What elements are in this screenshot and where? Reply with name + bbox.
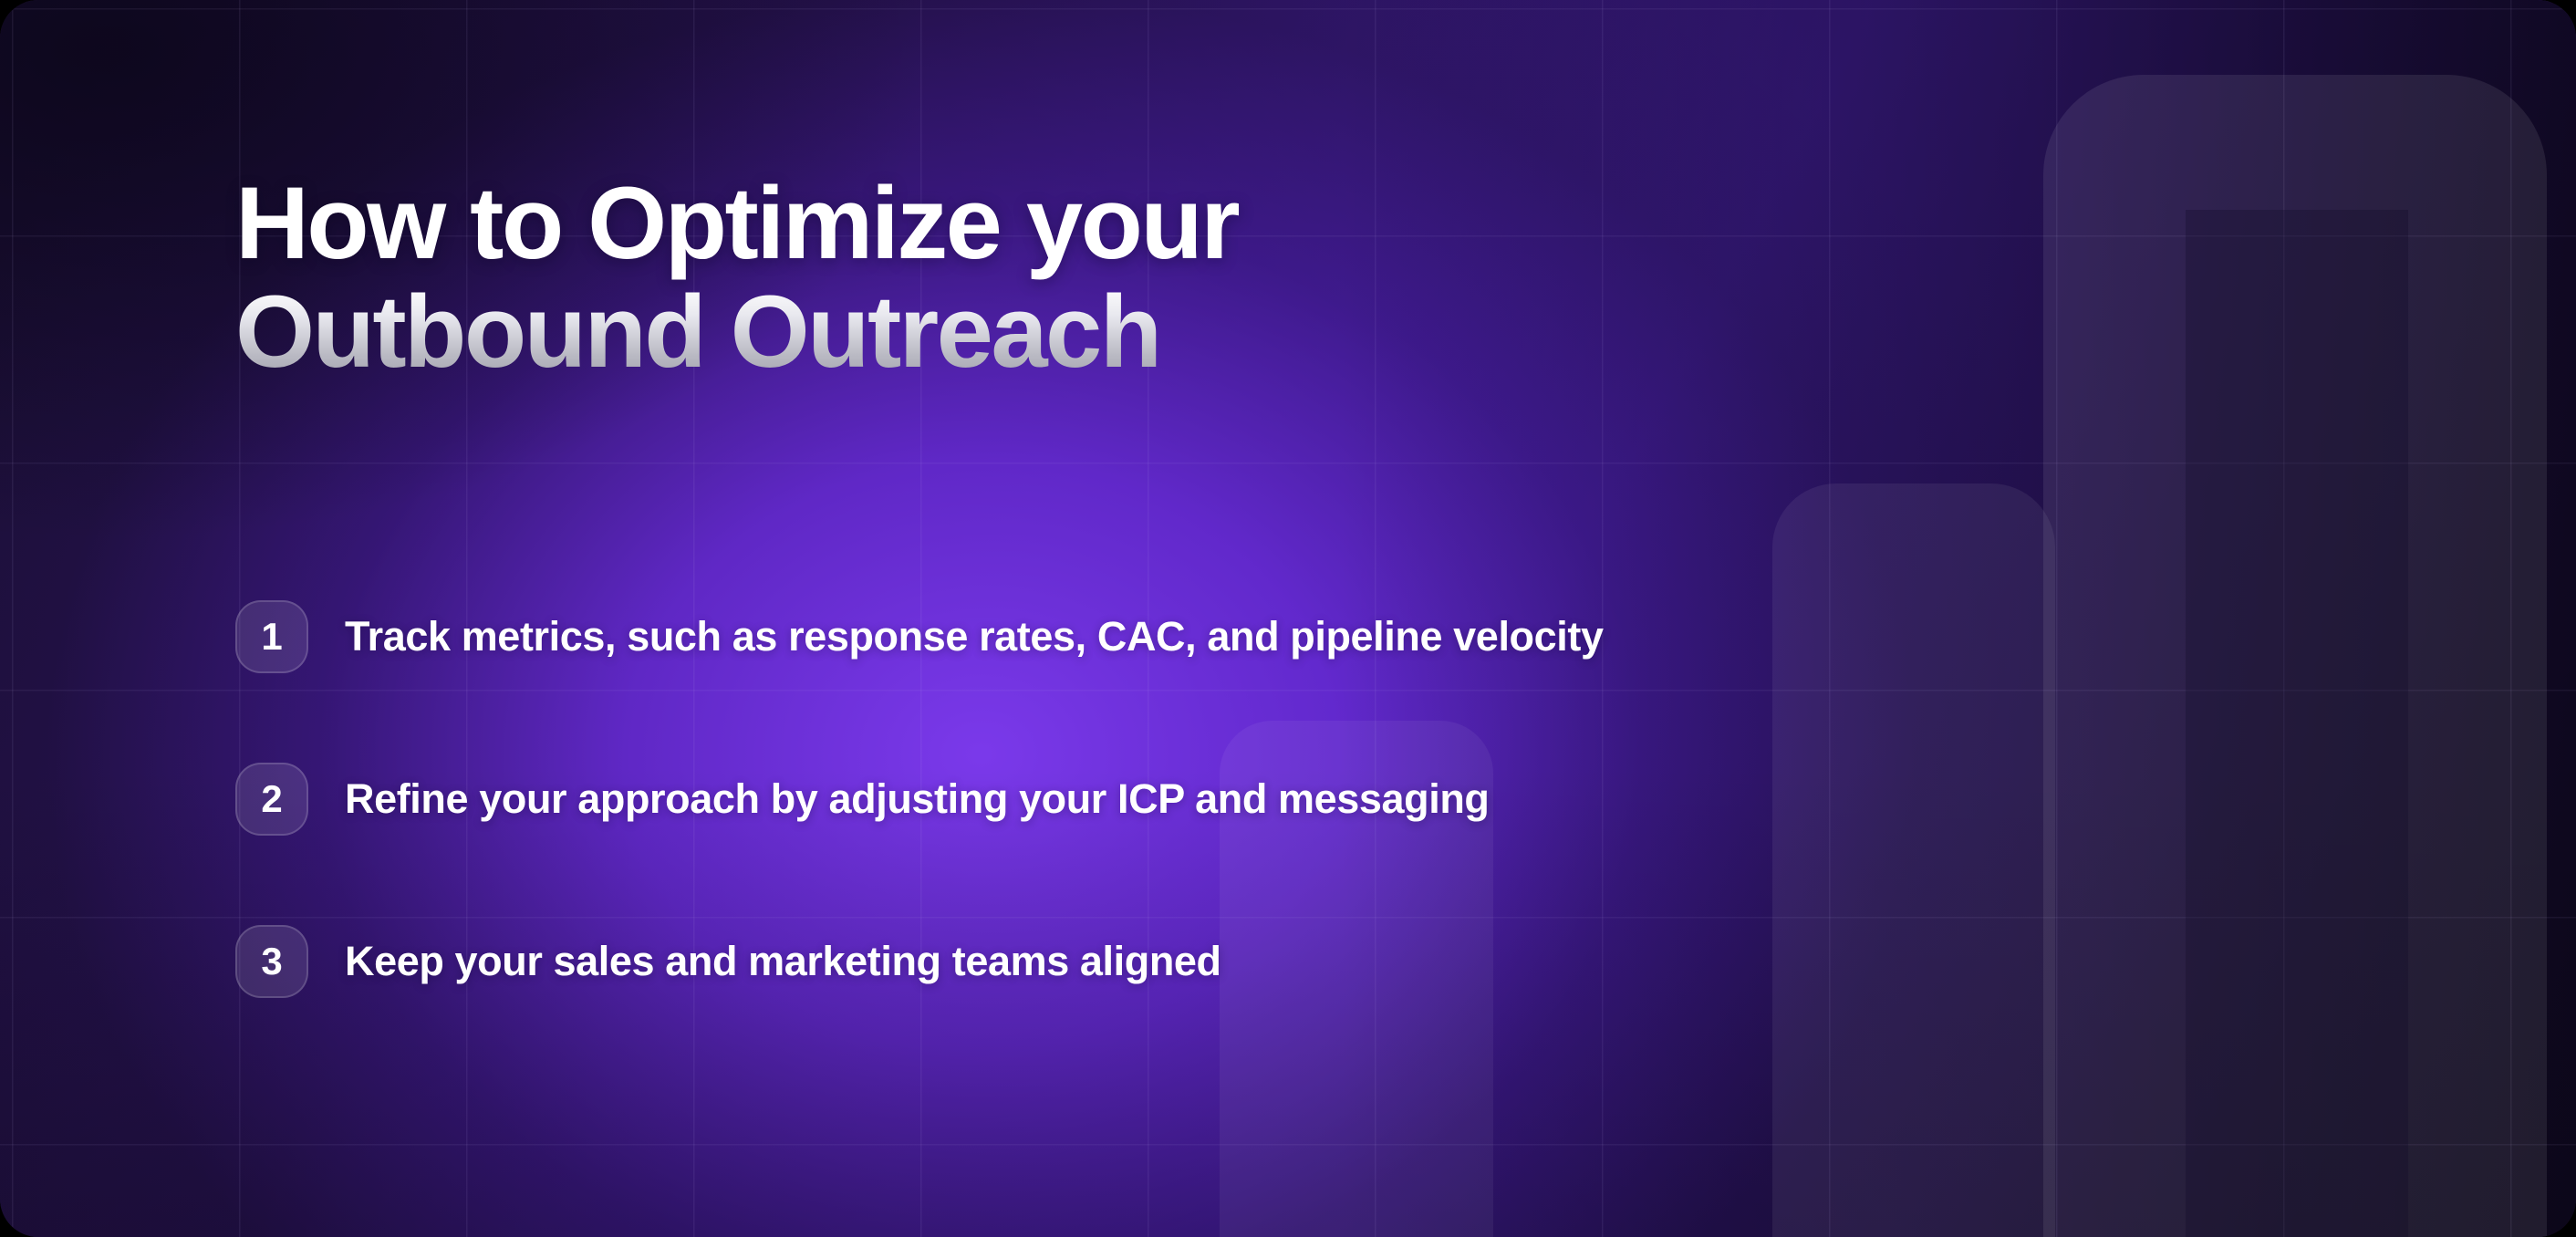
headline-line-2: Outbound Outreach <box>235 278 1238 387</box>
slide-card: How to Optimize your Outbound Outreach 1… <box>0 0 2576 1237</box>
list-item: 1 Track metrics, such as response rates,… <box>235 600 1604 673</box>
slide-content: How to Optimize your Outbound Outreach 1… <box>235 0 2425 1237</box>
step-text-2: Refine your approach by adjusting your I… <box>345 774 1490 823</box>
step-text-1: Track metrics, such as response rates, C… <box>345 612 1604 660</box>
list-item: 3 Keep your sales and marketing teams al… <box>235 925 1604 998</box>
step-text-3: Keep your sales and marketing teams alig… <box>345 937 1221 985</box>
step-number-badge-2: 2 <box>235 763 308 836</box>
list-item: 2 Refine your approach by adjusting your… <box>235 763 1604 836</box>
step-number-badge-1: 1 <box>235 600 308 673</box>
step-number-badge-3: 3 <box>235 925 308 998</box>
headline-line-1: How to Optimize your <box>235 170 1238 278</box>
page-title: How to Optimize your Outbound Outreach <box>235 170 1238 386</box>
steps-list: 1 Track metrics, such as response rates,… <box>235 600 1604 998</box>
